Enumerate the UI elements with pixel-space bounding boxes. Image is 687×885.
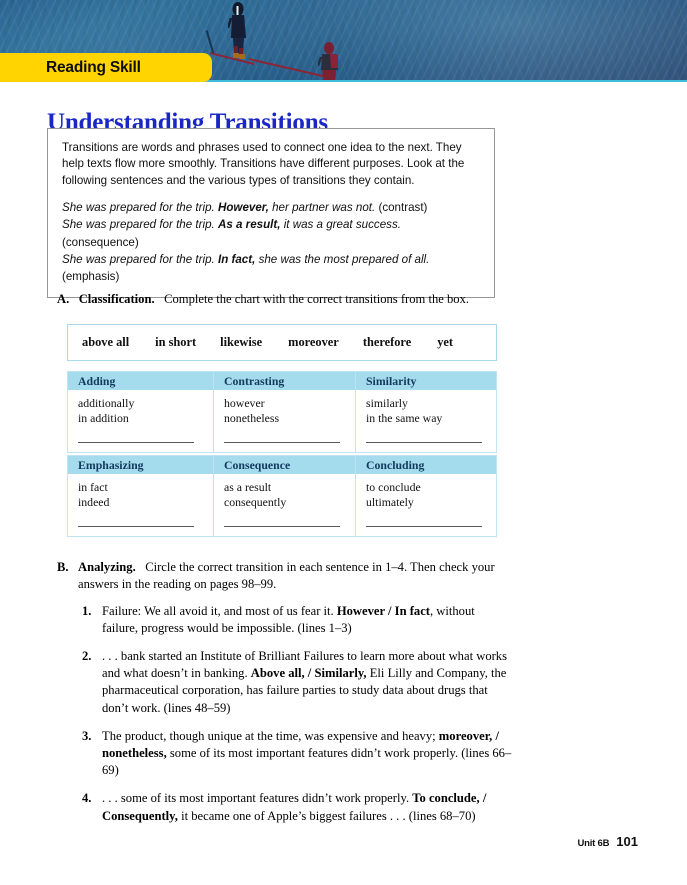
chart-2-header-consequence: Consequence: [214, 456, 356, 474]
section-b-instruction: Circle the correct transition in each se…: [78, 560, 495, 591]
answer-blank[interactable]: [366, 526, 482, 527]
chart-word: indeed: [78, 495, 213, 510]
intro-box: Transitions are words and phrases used t…: [47, 128, 495, 298]
example-3-before: She was prepared for the trip.: [62, 253, 218, 266]
question-text-pre: Failure: We all avoid it, and most of us…: [102, 604, 337, 618]
word-bank-item[interactable]: likewise: [220, 335, 262, 350]
question-number: 4.: [82, 790, 91, 807]
chart-1-body-row: additionally in addition however nonethe…: [68, 390, 496, 452]
section-b: B. Analyzing. Circle the correct transit…: [57, 559, 512, 836]
word-bank-item[interactable]: moreover: [288, 335, 339, 350]
chart-word: nonetheless: [224, 411, 355, 426]
example-2-after: it was a great success.: [280, 218, 401, 231]
question-choices[interactable]: However / In fact: [337, 604, 430, 618]
section-a-instruction: Complete the chart with the correct tran…: [164, 292, 469, 306]
chart-2-cell-emphasizing: in fact indeed: [68, 474, 214, 536]
answer-blank[interactable]: [78, 526, 194, 527]
word-bank-box: above all in short likewise moreover the…: [67, 324, 497, 361]
question-text-post: it became one of Apple’s biggest failure…: [178, 809, 476, 823]
chart-word: in fact: [78, 480, 213, 495]
chart-1-cell-contrasting: however nonetheless: [214, 390, 356, 452]
example-sentence-contrast: She was prepared for the trip. However, …: [62, 199, 480, 216]
word-bank-item[interactable]: in short: [155, 335, 196, 350]
transitions-chart-2: Emphasizing Consequence Concluding in fa…: [67, 455, 497, 537]
answer-blank[interactable]: [224, 526, 340, 527]
reading-skill-tab: Reading Skill: [0, 53, 212, 82]
chart-1-header-row: Adding Contrasting Similarity: [68, 372, 496, 390]
chart-word: ultimately: [366, 495, 496, 510]
footer-unit-label: Unit 6B: [577, 838, 609, 849]
chart-1-header-contrasting: Contrasting: [214, 372, 356, 390]
question-number: 2.: [82, 648, 91, 665]
question-number: 3.: [82, 728, 91, 745]
chart-word: consequently: [224, 495, 355, 510]
chart-word: as a result: [224, 480, 355, 495]
chart-word: in the same way: [366, 411, 496, 426]
section-b-title: Analyzing.: [78, 560, 136, 574]
example-1-transition: However,: [218, 201, 269, 214]
chart-1-header-adding: Adding: [68, 372, 214, 390]
chart-2-cell-concluding: to conclude ultimately: [356, 474, 496, 536]
chart-word: however: [224, 396, 355, 411]
word-bank-item[interactable]: yet: [437, 335, 453, 350]
chart-word: in addition: [78, 411, 213, 426]
question-item: 2. . . . bank started an Institute of Br…: [57, 648, 512, 717]
intro-paragraph: Transitions are words and phrases used t…: [62, 140, 480, 189]
example-2-label: (consequence): [62, 236, 139, 249]
question-text-pre: The product, though unique at the time, …: [102, 729, 439, 743]
page-footer: Unit 6B 101: [577, 834, 638, 849]
example-sentence-emphasis: She was prepared for the trip. In fact, …: [62, 251, 480, 285]
chart-2-header-concluding: Concluding: [356, 456, 496, 474]
answer-blank[interactable]: [366, 442, 482, 443]
section-a-title: Classification.: [79, 292, 155, 306]
example-3-label: (emphasis): [62, 270, 119, 283]
question-list: 1. Failure: We all avoid it, and most of…: [57, 603, 512, 825]
answer-blank[interactable]: [224, 442, 340, 443]
chart-word: to conclude: [366, 480, 496, 495]
question-item: 1. Failure: We all avoid it, and most of…: [57, 603, 512, 637]
question-item: 4. . . . some of its most important feat…: [57, 790, 512, 824]
climber-figure-lead: [228, 2, 248, 60]
chart-word: similarly: [366, 396, 496, 411]
example-1-after: her partner was not.: [269, 201, 379, 214]
example-2-transition: As a result,: [218, 218, 281, 231]
example-3-transition: In fact,: [218, 253, 255, 266]
chart-2-cell-consequence: as a result consequently: [214, 474, 356, 536]
example-2-before: She was prepared for the trip.: [62, 218, 218, 231]
question-text-pre: . . . some of its most important feature…: [102, 791, 412, 805]
chart-1-cell-similarity: similarly in the same way: [356, 390, 496, 452]
chart-2-header-emphasizing: Emphasizing: [68, 456, 214, 474]
climber-figure-follower: [318, 42, 340, 82]
word-bank-item[interactable]: above all: [82, 335, 129, 350]
transitions-chart-1: Adding Contrasting Similarity additional…: [67, 371, 497, 453]
section-a-heading: A. Classification. Complete the chart wi…: [57, 291, 507, 307]
answer-blank[interactable]: [78, 442, 194, 443]
question-number: 1.: [82, 603, 91, 620]
section-a-letter: A.: [57, 292, 69, 306]
reading-skill-tab-label: Reading Skill: [46, 59, 141, 77]
question-item: 3. The product, though unique at the tim…: [57, 728, 512, 780]
chart-2-header-row: Emphasizing Consequence Concluding: [68, 456, 496, 474]
example-1-label: (contrast): [378, 201, 427, 214]
example-1-before: She was prepared for the trip.: [62, 201, 218, 214]
chart-word: additionally: [78, 396, 213, 411]
question-choices[interactable]: Above all, / Similarly,: [251, 666, 367, 680]
example-3-after: she was the most prepared of all.: [255, 253, 429, 266]
chart-2-body-row: in fact indeed as a result consequently …: [68, 474, 496, 536]
chart-1-cell-adding: additionally in addition: [68, 390, 214, 452]
example-sentence-consequence: She was prepared for the trip. As a resu…: [62, 216, 480, 250]
word-bank-item[interactable]: therefore: [363, 335, 411, 350]
chart-1-header-similarity: Similarity: [356, 372, 496, 390]
footer-page-number: 101: [616, 834, 638, 849]
section-b-letter: B.: [57, 560, 69, 574]
section-b-heading: B. Analyzing. Circle the correct transit…: [57, 559, 512, 593]
